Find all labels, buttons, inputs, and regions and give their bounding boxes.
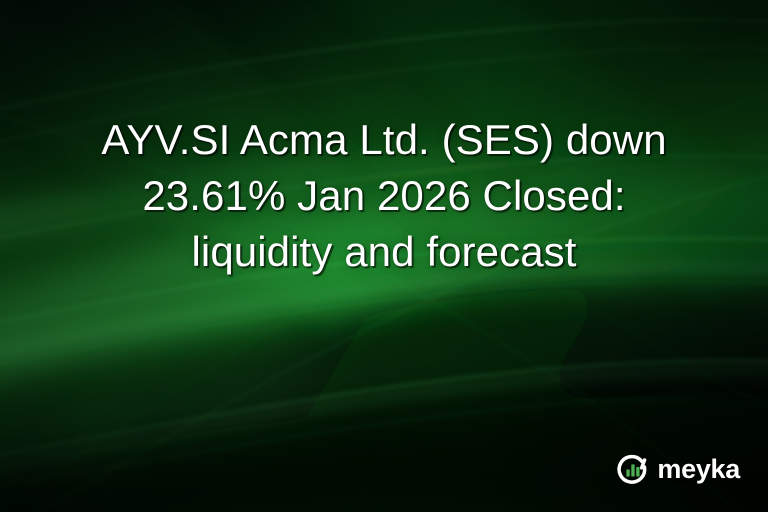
meyka-logo[interactable]: meyka <box>616 452 740 486</box>
promo-banner: AYV.SI Acma Ltd. (SES) down 23.61% Jan 2… <box>0 0 768 512</box>
headline-line-1: AYV.SI Acma Ltd. (SES) down <box>24 112 744 168</box>
meyka-wordmark: meyka <box>657 456 740 483</box>
headline-line-2: 23.61% Jan 2026 Closed: <box>24 168 744 224</box>
headline-line-3: liquidity and forecast <box>24 224 744 280</box>
headline-block: AYV.SI Acma Ltd. (SES) down 23.61% Jan 2… <box>0 112 768 280</box>
meyka-chart-ring-icon <box>616 452 650 486</box>
